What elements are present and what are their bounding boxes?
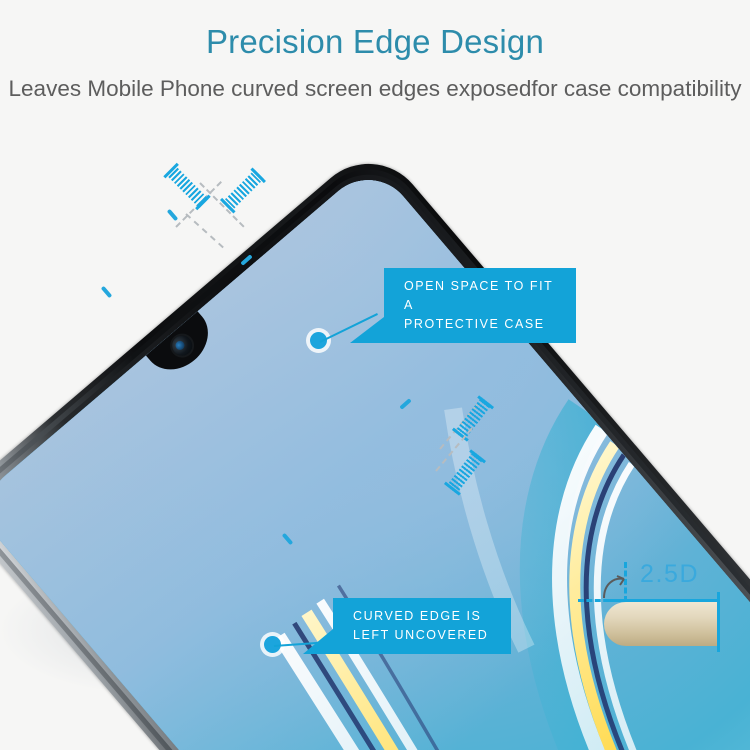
measurement-arrow [222,170,264,212]
header: Precision Edge Design Leaves Mobile Phon… [0,0,750,105]
callout-open-space-label: OPEN SPACE TO FIT A PROTECTIVE CASE [384,268,576,343]
page-title: Precision Edge Design [0,24,750,60]
diagram-label: 2.5D [640,562,699,587]
guide-dash-line [185,213,223,248]
bezel-tick-marker [167,209,179,221]
edge-profile-diagram: 2.5D [578,558,728,660]
callout-open-space[interactable]: OPEN SPACE TO FIT A PROTECTIVE CASE [384,268,576,343]
callout-curved-edge[interactable]: CURVED EDGE IS LEFT UNCOVERED [333,598,511,654]
bezel-tick-marker [101,286,113,298]
product-infographic: Precision Edge Design Leaves Mobile Phon… [0,0,750,750]
callout-curved-edge-label: CURVED EDGE IS LEFT UNCOVERED [333,598,511,654]
callout-tail [303,629,333,654]
diagram-top-line [604,599,720,602]
glass-edge-profile [604,602,720,646]
page-subtitle: Leaves Mobile Phone curved screen edges … [0,73,750,105]
front-camera-icon [168,331,196,359]
curve-arrow-icon [600,572,630,602]
diagram-right-line [717,592,720,652]
callout-tail [350,317,384,343]
